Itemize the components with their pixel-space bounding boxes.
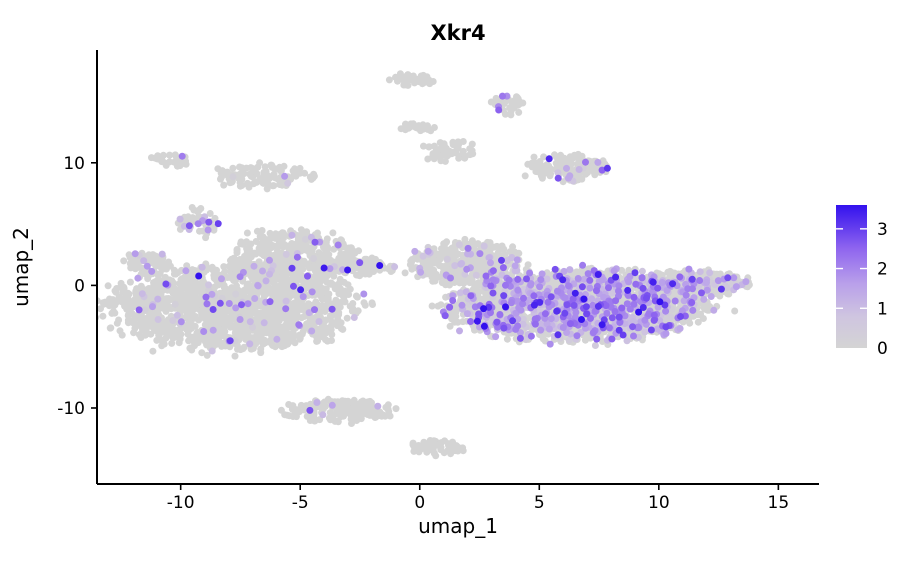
x-tick-label: -5	[292, 493, 309, 513]
y-tick-label: 10	[63, 154, 85, 174]
umap-feature-plot: Xkr4 -10-5051015 100-10 umap_1 umap_2 32…	[0, 0, 911, 562]
x-tick-label: 15	[768, 493, 790, 513]
figure-canvas: Xkr4 -10-5051015 100-10 umap_1 umap_2 32…	[0, 0, 911, 562]
colorbar-gradient	[836, 205, 867, 348]
colorbar-tick-label: 3	[877, 220, 888, 240]
x-tick-label: -10	[167, 493, 195, 513]
colorbar-tick-label: 1	[877, 299, 888, 319]
y-tick-label: -10	[57, 399, 85, 419]
colorbar-tick-label: 2	[877, 260, 888, 280]
colorbar-tick-label: 0	[877, 339, 888, 359]
y-tick-label: 0	[74, 276, 85, 296]
y-axis-label: umap_2	[9, 227, 33, 307]
x-tick-label: 10	[648, 493, 670, 513]
x-tick-label: 5	[534, 493, 545, 513]
plot-title: Xkr4	[430, 21, 485, 45]
x-tick-label: 0	[414, 493, 425, 513]
x-axis-label: umap_1	[418, 514, 498, 538]
